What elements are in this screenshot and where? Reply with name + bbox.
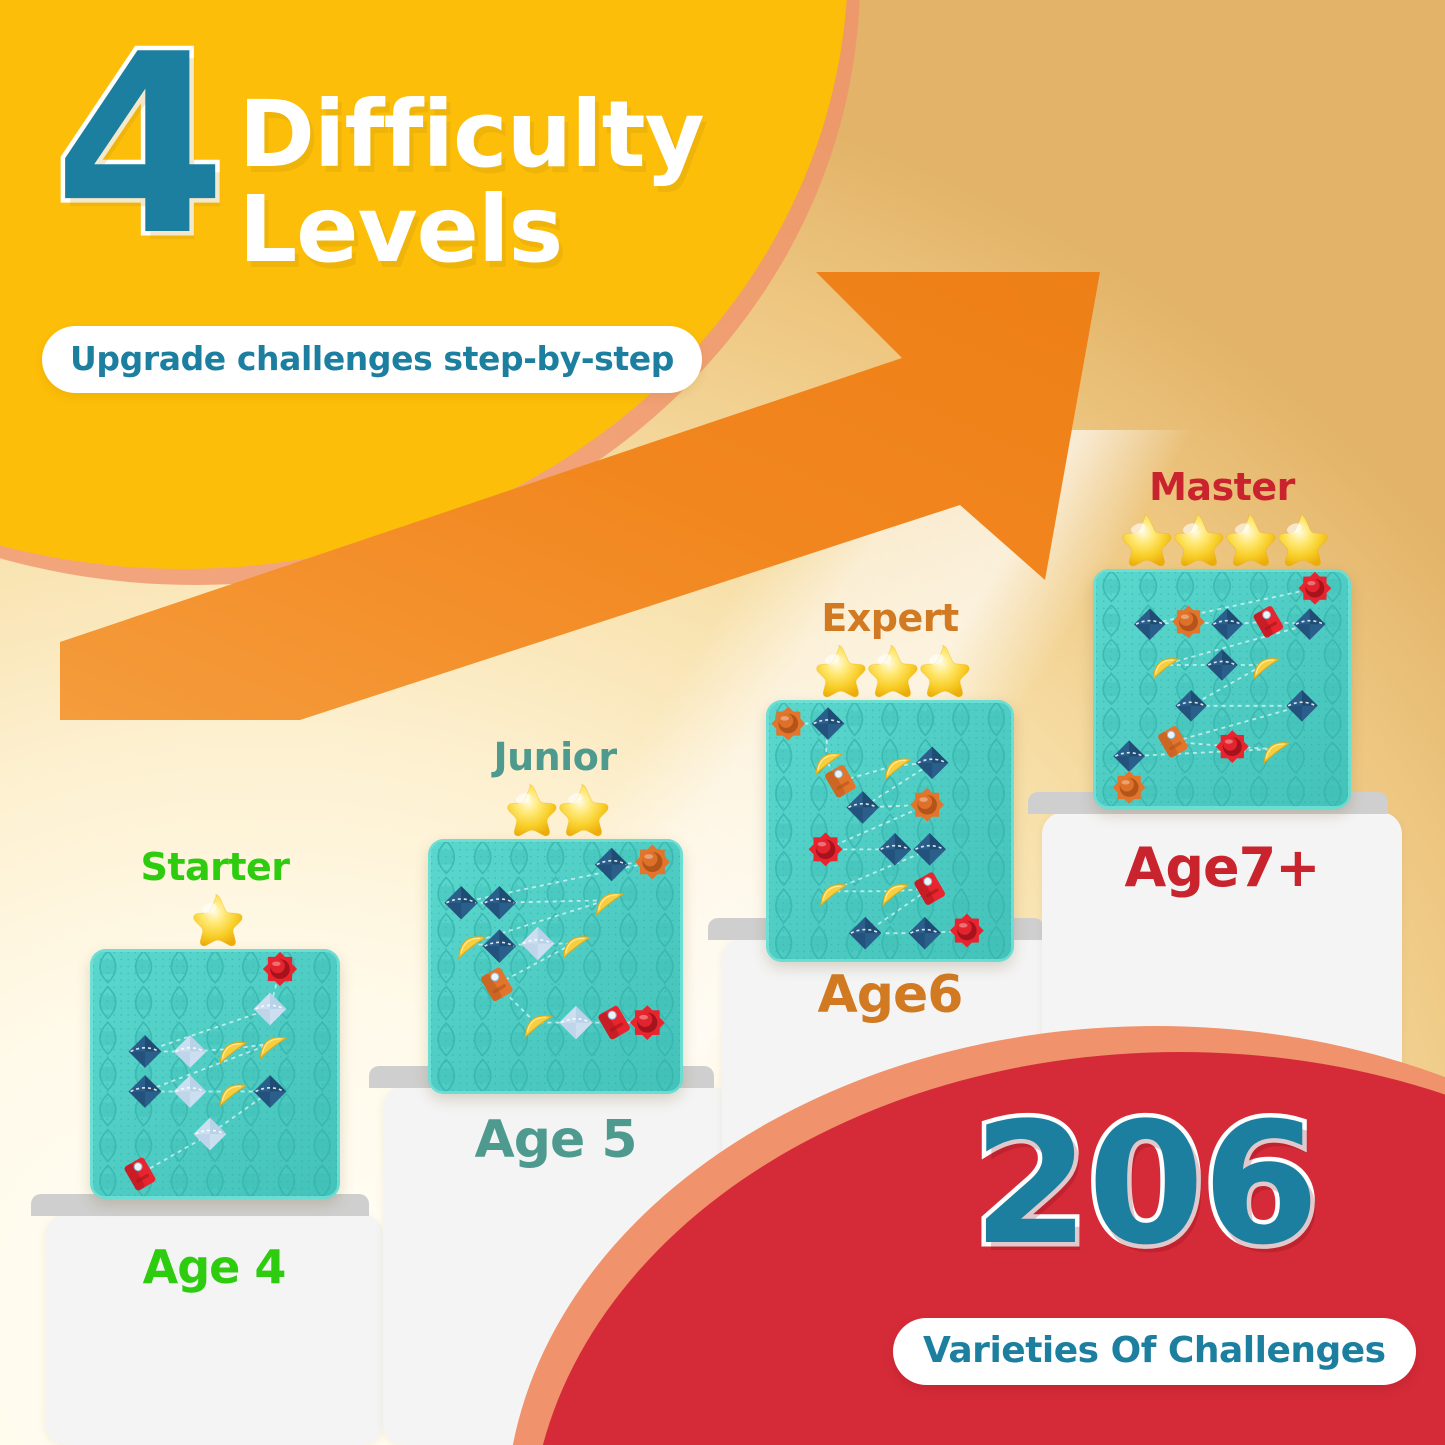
subtitle-pill: Upgrade challenges step-by-step (42, 326, 702, 393)
board-piece-gear (1113, 771, 1146, 804)
star-icon (809, 642, 867, 700)
board-surface (766, 700, 1014, 962)
level-name-master: Master (1062, 465, 1382, 509)
board-piece-gear (950, 914, 984, 948)
infographic-canvas: 4 Difficulty Levels Upgrade challenges s… (0, 0, 1445, 1445)
star-icon (1115, 511, 1173, 569)
star-icon (186, 891, 244, 949)
challenge-count-pill: Varieties Of Challenges (893, 1318, 1416, 1385)
star-rating-starter (70, 891, 360, 949)
star-rating-junior (400, 781, 710, 839)
age-label-age6: Age6 (722, 965, 1058, 1025)
star-rating-master (1062, 511, 1382, 569)
level-group-master: Master (1062, 465, 1382, 809)
board-piece-gear (629, 1005, 664, 1040)
star-icon (552, 781, 610, 839)
subtitle-text: Upgrade challenges step-by-step (70, 339, 674, 378)
headline-line-2: Levels (239, 183, 704, 278)
headline-number: 4 (54, 40, 221, 253)
star-icon (861, 642, 919, 700)
age-label-age5: Age 5 (383, 1110, 728, 1170)
headline-block: 4 Difficulty Levels (48, 40, 748, 278)
board-surface (428, 839, 683, 1094)
star-icon (500, 781, 558, 839)
board-piece-gear (1172, 605, 1205, 638)
puzzle-board-starter (90, 949, 340, 1199)
level-name-junior: Junior (400, 735, 710, 779)
board-piece-gear (263, 952, 297, 986)
star-rating-expert (730, 642, 1050, 700)
board-piece-gear (809, 832, 843, 866)
star-icon (913, 642, 971, 700)
star-icon (1167, 511, 1225, 569)
board-piece-gear (1216, 730, 1249, 763)
puzzle-board-junior (428, 839, 683, 1094)
age-label-age4: Age 4 (45, 1240, 383, 1294)
age-label-age7: Age7+ (1042, 836, 1402, 899)
board-surface (1093, 569, 1351, 809)
board-piece-gear (910, 788, 944, 822)
level-group-starter: Starter (70, 845, 360, 1199)
star-icon (1219, 511, 1277, 569)
star-icon (1271, 511, 1329, 569)
board-piece-gear (635, 845, 670, 880)
headline-line-1: Difficulty (239, 88, 704, 183)
board-piece-gear (771, 707, 805, 741)
puzzle-board-master (1093, 569, 1351, 809)
level-group-expert: Expert (730, 596, 1050, 962)
level-name-expert: Expert (730, 596, 1050, 640)
puzzle-board-expert (766, 700, 1014, 962)
level-group-junior: Junior (400, 735, 710, 1094)
board-surface (90, 949, 340, 1199)
board-piece-gear (1299, 572, 1332, 605)
challenge-count-number: 206 (905, 1100, 1385, 1268)
level-name-starter: Starter (70, 845, 360, 889)
challenge-count-caption: Varieties Of Challenges (923, 1330, 1386, 1371)
